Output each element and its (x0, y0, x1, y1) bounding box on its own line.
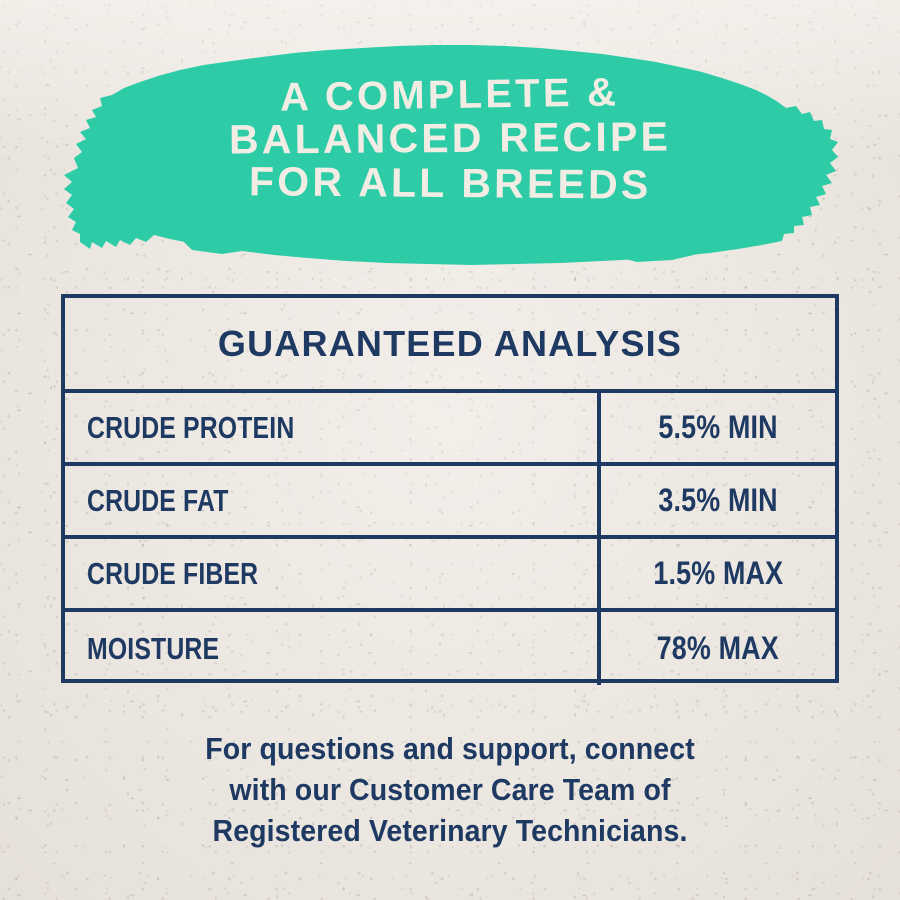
nutrient-label: CRUDE FAT (87, 483, 229, 519)
nutrient-value: 5.5% MIN (658, 409, 777, 446)
nutrient-label: CRUDE FIBER (87, 556, 258, 592)
brush-stroke-shape (62, 40, 838, 265)
table-cell-value: 5.5% MIN (601, 393, 835, 462)
table-cell-label: CRUDE FAT (65, 466, 601, 535)
table-row: CRUDE FAT 3.5% MIN (65, 466, 835, 539)
table-cell-label: CRUDE PROTEIN (65, 393, 601, 462)
table-cell-value: 3.5% MIN (601, 466, 835, 535)
nutrient-label: CRUDE PROTEIN (87, 410, 294, 446)
footer-line-3: Registered Veterinary Technicians. (82, 810, 818, 851)
table-row: MOISTURE 78% MAX (65, 612, 835, 685)
footer-line-2: with our Customer Care Team of (82, 769, 818, 810)
banner-brush-stroke: A COMPLETE & BALANCED RECIPE FOR ALL BRE… (62, 40, 838, 265)
table-cell-value: 78% MAX (601, 612, 835, 685)
guaranteed-analysis-table: GUARANTEED ANALYSIS CRUDE PROTEIN 5.5% M… (61, 294, 839, 683)
table-row: CRUDE FIBER 1.5% MAX (65, 539, 835, 612)
nutrient-value: 3.5% MIN (658, 482, 777, 519)
table-cell-label: MOISTURE (65, 612, 601, 685)
customer-support-text: For questions and support, connect with … (50, 728, 850, 851)
table-cell-value: 1.5% MAX (601, 539, 835, 608)
nutrient-value: 78% MAX (657, 630, 779, 667)
nutrient-label: MOISTURE (87, 631, 219, 667)
guaranteed-analysis-header: GUARANTEED ANALYSIS (65, 298, 835, 393)
footer-line-1: For questions and support, connect (82, 728, 818, 769)
nutrient-value: 1.5% MAX (653, 555, 783, 592)
table-row: CRUDE PROTEIN 5.5% MIN (65, 393, 835, 466)
product-label-page: A COMPLETE & BALANCED RECIPE FOR ALL BRE… (0, 0, 900, 900)
guaranteed-analysis-title: GUARANTEED ANALYSIS (218, 323, 682, 365)
table-cell-label: CRUDE FIBER (65, 539, 601, 608)
